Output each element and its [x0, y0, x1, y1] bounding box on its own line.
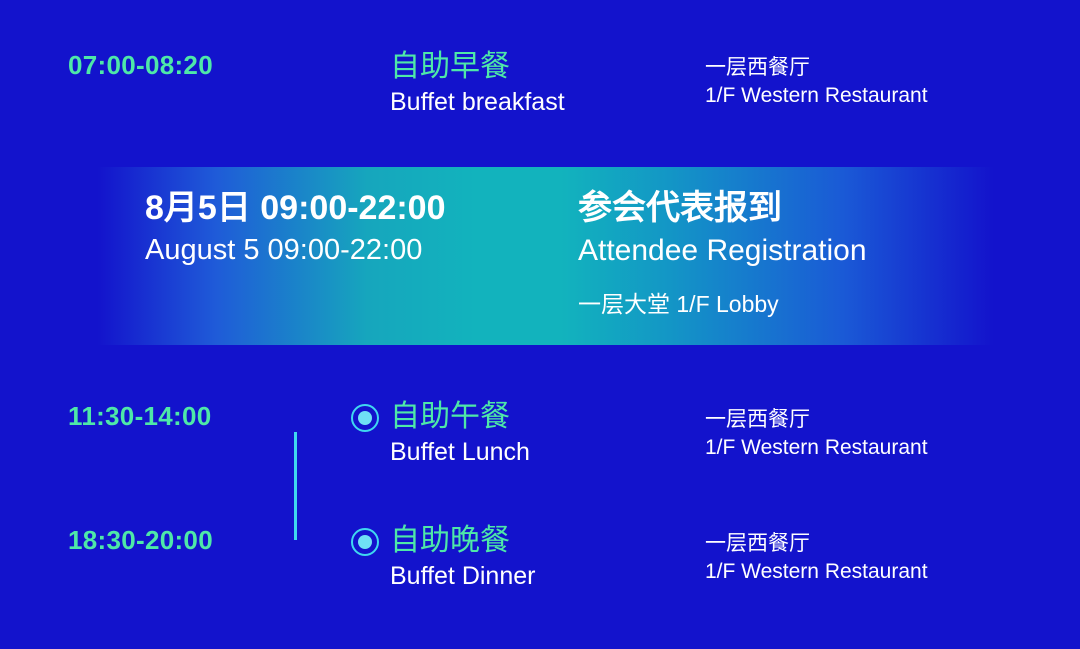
schedule-row-lunch: 11:30-14:00 自助午餐 Buffet Lunch 一层西餐厅 1/F …: [0, 398, 1080, 469]
venue-cell: 一层西餐厅 1/F Western Restaurant: [705, 398, 1080, 464]
title-cell: 自助早餐 Buffet breakfast: [390, 48, 705, 119]
band-datetime-group: 8月5日 09:00-22:00 August 5 09:00-22:00: [145, 187, 446, 270]
event-title-cn: 自助午餐: [390, 398, 705, 436]
venue-label-en: 1/F Western Restaurant: [705, 81, 1080, 111]
timeline-dot-icon: [351, 528, 379, 556]
time-label: 18:30-20:00: [68, 526, 340, 555]
event-title-cn: 自助晚餐: [390, 522, 705, 560]
band-datetime-en: August 5 09:00-22:00: [145, 230, 446, 271]
event-title-en: Buffet Dinner: [390, 560, 705, 594]
time-label: 11:30-14:00: [68, 402, 340, 431]
timeline-dot-icon: [351, 404, 379, 432]
time-cell: 11:30-14:00: [0, 398, 340, 431]
band-event-group: 参会代表报到 Attendee Registration 一层大堂 1/F Lo…: [578, 187, 867, 320]
band-content: 8月5日 09:00-22:00 August 5 09:00-22:00 参会…: [0, 167, 1080, 345]
venue-cell: 一层西餐厅 1/F Western Restaurant: [705, 48, 1080, 112]
band-title-cn: 参会代表报到: [578, 187, 867, 230]
venue-cell: 一层西餐厅 1/F Western Restaurant: [705, 522, 1080, 588]
conference-schedule: 07:00-08:20 自助早餐 Buffet breakfast 一层西餐厅 …: [0, 0, 1080, 649]
title-cell: 自助晚餐 Buffet Dinner: [390, 522, 705, 593]
schedule-row-dinner: 18:30-20:00 自助晚餐 Buffet Dinner 一层西餐厅 1/F…: [0, 522, 1080, 593]
band-title-en: Attendee Registration: [578, 230, 867, 272]
event-title-en: Buffet breakfast: [390, 86, 705, 120]
title-cell: 自助午餐 Buffet Lunch: [390, 398, 705, 469]
event-title-en: Buffet Lunch: [390, 436, 705, 470]
band-datetime-cn: 8月5日 09:00-22:00: [145, 187, 446, 230]
time-cell: 18:30-20:00: [0, 522, 340, 555]
time-label: 07:00-08:20: [68, 51, 340, 80]
event-title-cn: 自助早餐: [390, 48, 705, 86]
venue-label-en: 1/F Western Restaurant: [705, 557, 1080, 587]
venue-label-cn: 一层西餐厅: [705, 54, 1080, 81]
registration-highlight-band: 8月5日 09:00-22:00 August 5 09:00-22:00 参会…: [0, 167, 1080, 345]
venue-label-en: 1/F Western Restaurant: [705, 433, 1080, 463]
schedule-row-breakfast: 07:00-08:20 自助早餐 Buffet breakfast 一层西餐厅 …: [0, 48, 1080, 119]
time-cell: 07:00-08:20: [0, 48, 340, 80]
band-venue-label: 一层大堂 1/F Lobby: [578, 288, 867, 320]
venue-label-cn: 一层西餐厅: [705, 530, 1080, 557]
venue-label-cn: 一层西餐厅: [705, 406, 1080, 433]
